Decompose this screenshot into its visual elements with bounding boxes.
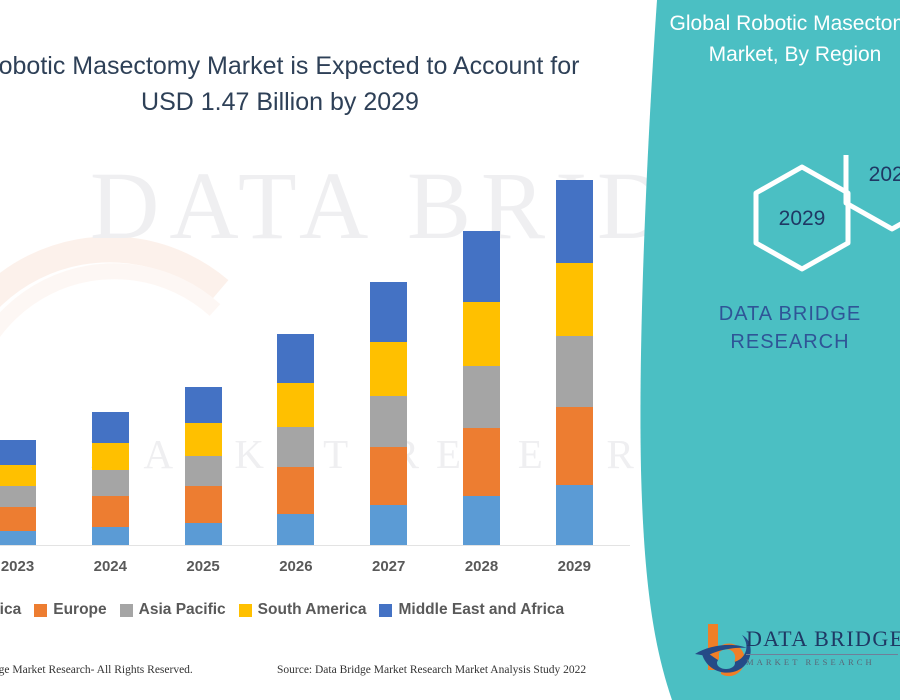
x-axis-line <box>0 545 630 546</box>
chart-plot-area: 2023202420252026202720282029 <box>0 0 660 700</box>
bar-segment <box>556 407 593 485</box>
logo-subtitle: MARKET RESEARCH <box>746 657 900 667</box>
legend-label: Middle East and Africa <box>398 601 564 619</box>
chart-card: DATA BRIDGE MARKET RESEARCH Robotic Mase… <box>0 0 660 700</box>
bar-segment <box>370 342 407 396</box>
bar-segment <box>556 263 593 336</box>
bar-segment <box>185 486 222 522</box>
hexagon-label-2022: 2022 <box>852 163 900 187</box>
bar-segment <box>463 496 500 545</box>
logo-divider <box>746 654 898 655</box>
bar-segment <box>370 282 407 342</box>
footer: © Data Bridge Market Research- All Right… <box>0 664 660 688</box>
bar-segment <box>463 231 500 302</box>
legend-item: South America <box>239 601 367 619</box>
bar-segment <box>92 496 129 527</box>
bar-segment <box>277 467 314 514</box>
bar-2028 <box>463 231 500 545</box>
bar-segment <box>185 387 222 423</box>
bar-segment <box>370 447 407 505</box>
bar-segment <box>556 180 593 263</box>
bar-segment <box>92 470 129 496</box>
x-label-2028: 2028 <box>437 558 527 575</box>
bar-segment <box>0 465 36 486</box>
bar-segment <box>556 485 593 545</box>
bar-2024 <box>92 412 129 545</box>
hexagon-group: 2029 2022 <box>640 155 900 280</box>
bar-segment <box>0 440 36 465</box>
logo-text-block: DATA BRIDGE MARKET RESEARCH <box>746 626 900 667</box>
teal-panel-content: Global Robotic Masectomy Market, By Regi… <box>640 0 900 700</box>
panel-title: Global Robotic Masectomy Market, By Regi… <box>640 8 900 70</box>
x-label-2026: 2026 <box>251 558 341 575</box>
bar-segment <box>92 412 129 443</box>
bar-segment <box>185 423 222 455</box>
legend-item: Asia Pacific <box>120 601 226 619</box>
infographic-root: DATA BRIDGE MARKET RESEARCH Robotic Mase… <box>0 0 900 700</box>
legend-swatch-icon <box>120 604 133 617</box>
x-label-2024: 2024 <box>65 558 155 575</box>
bar-segment <box>370 396 407 446</box>
bar-segment <box>0 531 36 545</box>
legend-label: North America <box>0 601 21 619</box>
legend-swatch-icon <box>379 604 392 617</box>
bar-segment <box>185 456 222 487</box>
x-label-2025: 2025 <box>158 558 248 575</box>
bar-segment <box>185 523 222 545</box>
legend-label: South America <box>258 601 367 619</box>
bar-segment <box>370 505 407 545</box>
x-label-2027: 2027 <box>344 558 434 575</box>
bar-2027 <box>370 282 407 545</box>
legend-label: Asia Pacific <box>139 601 226 619</box>
bar-segment <box>463 366 500 428</box>
x-label-2023: 2023 <box>0 558 63 575</box>
footer-source: Source: Data Bridge Market Research Mark… <box>277 664 586 676</box>
logo-title: DATA BRIDGE <box>746 626 900 652</box>
hexagon-label-2029: 2029 <box>762 207 842 231</box>
bar-segment <box>277 427 314 467</box>
legend-item: Europe <box>34 601 106 619</box>
bar-segment <box>277 334 314 383</box>
chart-legend: North AmericaEuropeAsia PacificSouth Ame… <box>0 598 556 622</box>
bar-segment <box>92 443 129 471</box>
bar-2029 <box>556 180 593 545</box>
footer-copyright: © Data Bridge Market Research- All Right… <box>0 664 193 676</box>
bar-2026 <box>277 334 314 545</box>
bar-segment <box>92 527 129 545</box>
bar-segment <box>463 302 500 366</box>
bar-segment <box>277 383 314 427</box>
bar-segment <box>0 486 36 507</box>
bar-segment <box>0 507 36 532</box>
legend-swatch-icon <box>239 604 252 617</box>
panel-subtitle: DATA BRIDGE RESEARCH <box>640 300 900 356</box>
bar-segment <box>277 514 314 545</box>
bar-segment <box>556 336 593 407</box>
bar-2025 <box>185 387 222 545</box>
legend-item: North America <box>0 601 21 619</box>
bar-2023 <box>0 440 36 545</box>
bar-segment <box>463 428 500 496</box>
x-label-2029: 2029 <box>529 558 619 575</box>
legend-label: Europe <box>53 601 106 619</box>
legend-item: Middle East and Africa <box>379 601 564 619</box>
x-axis-labels: 2023202420252026202720282029 <box>0 558 660 584</box>
legend-swatch-icon <box>34 604 47 617</box>
